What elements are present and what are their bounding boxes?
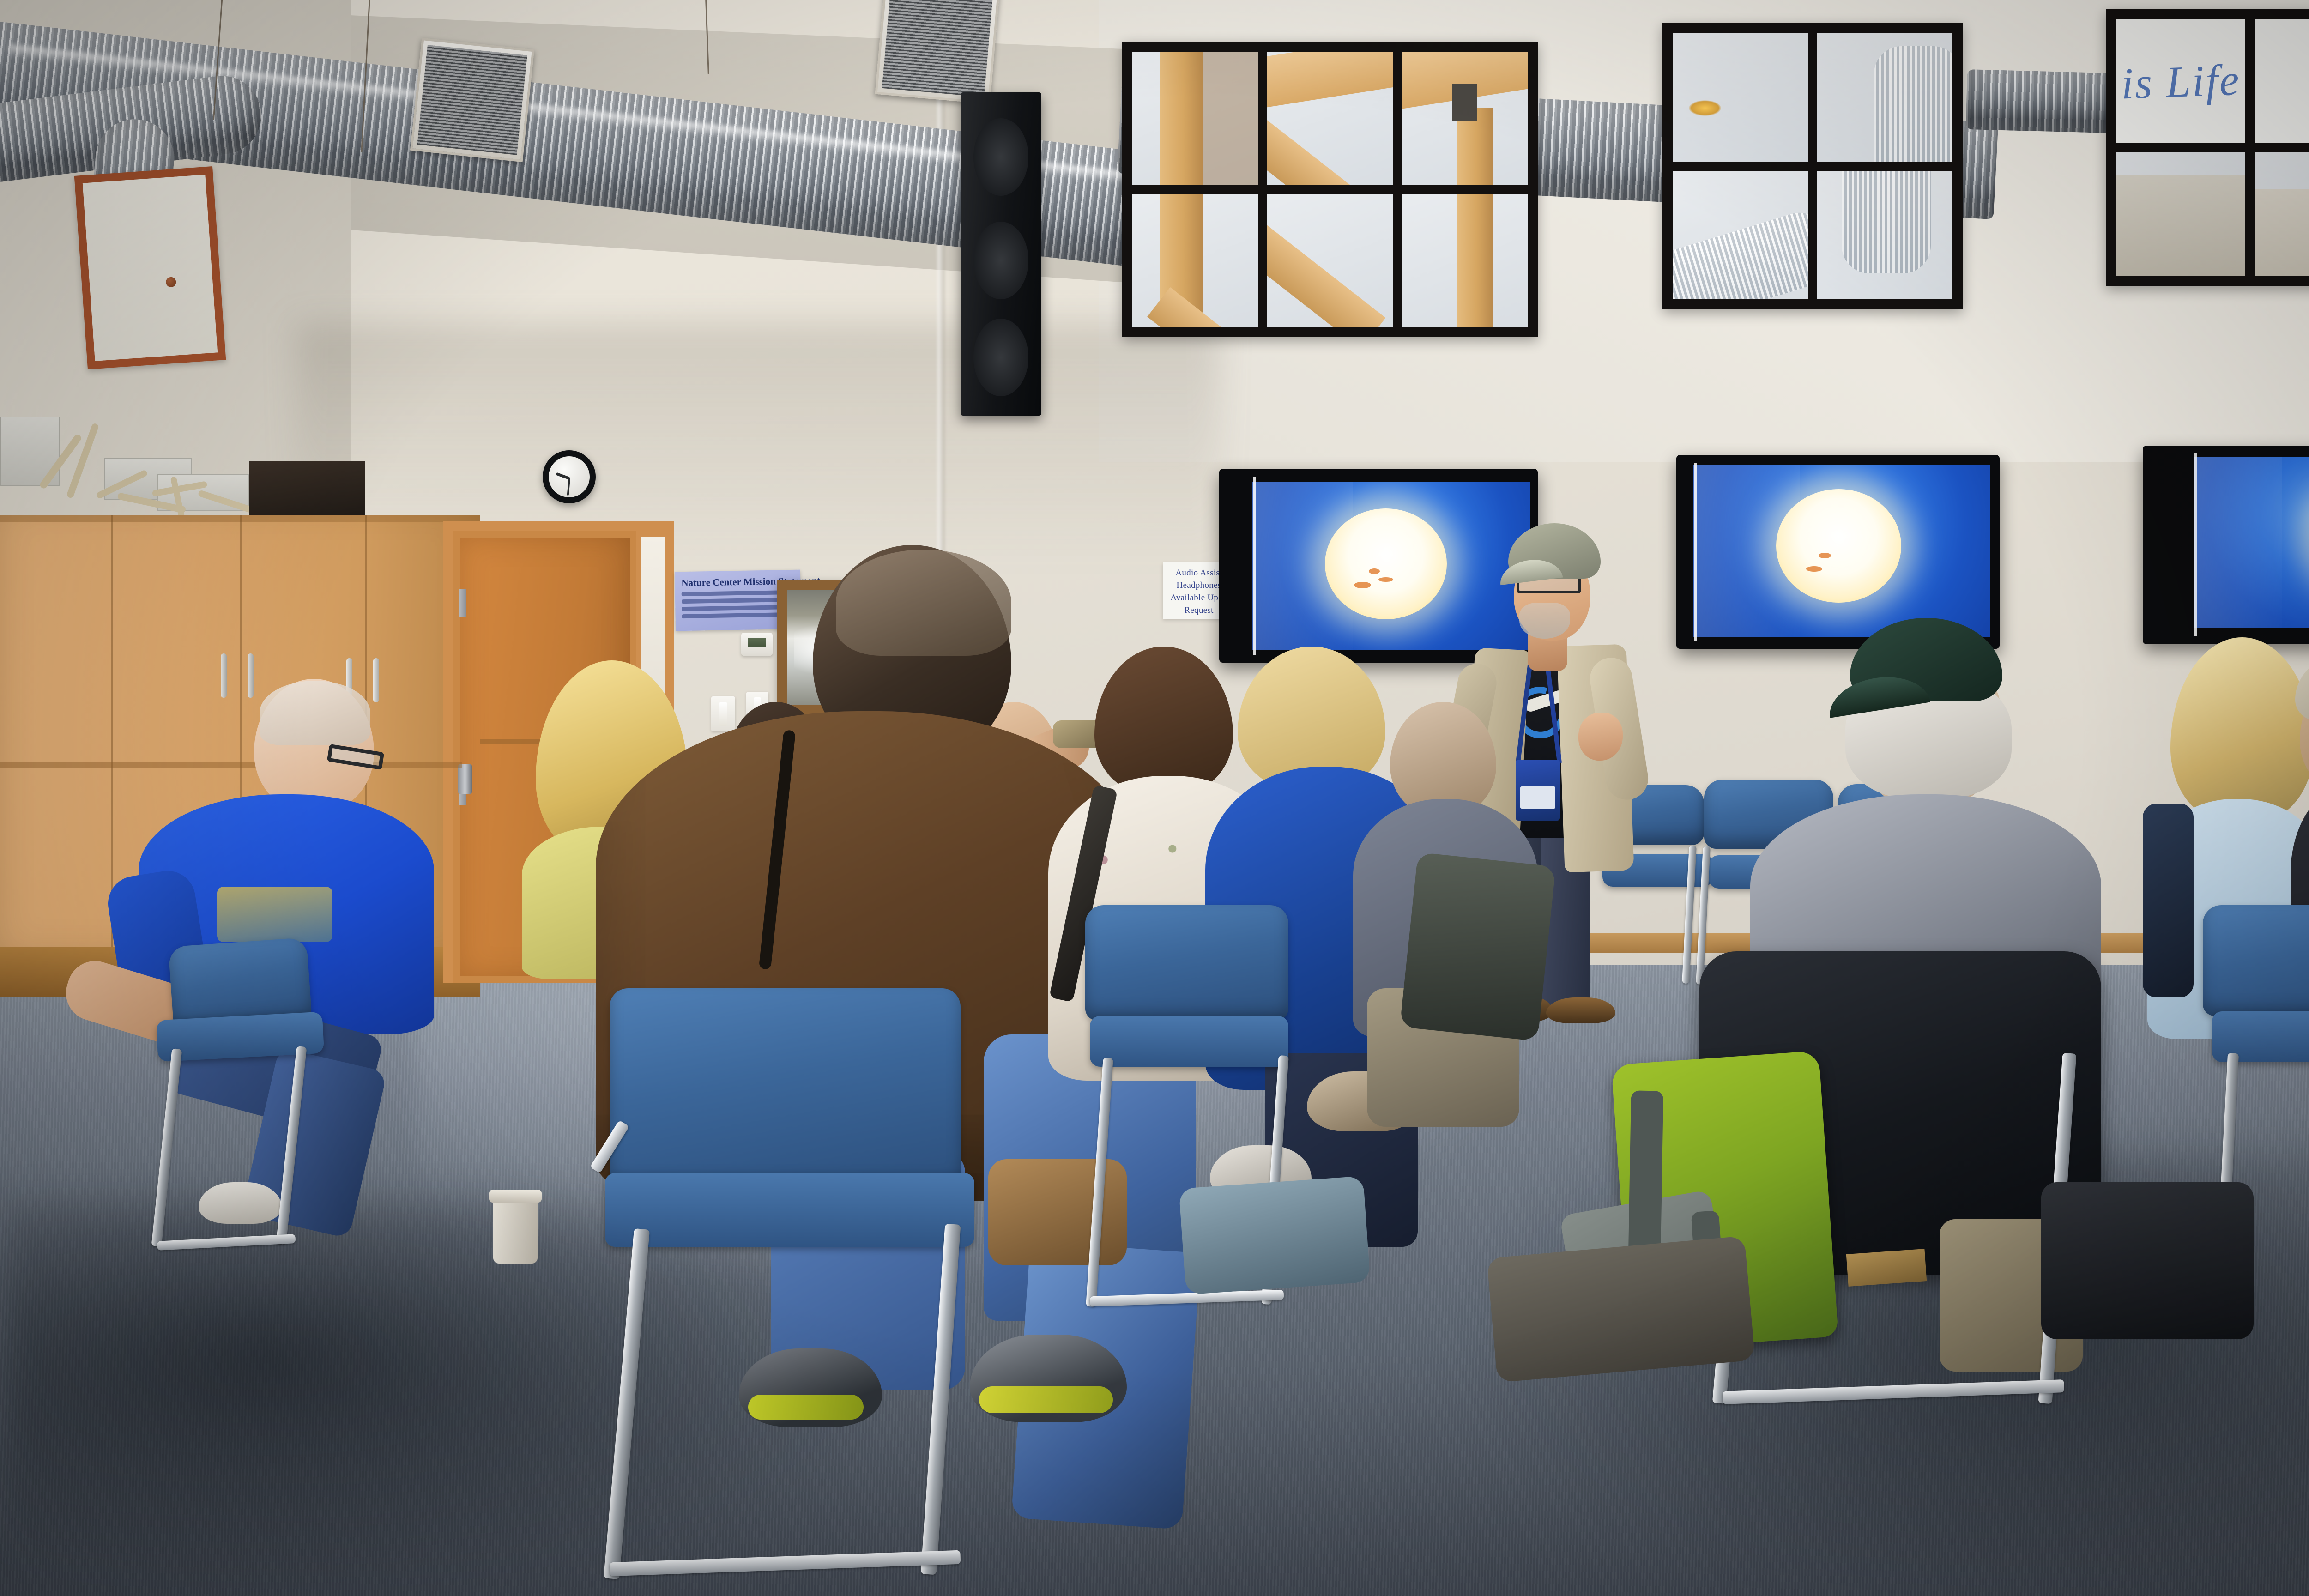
window-sign-pane: is Life — [2116, 19, 2245, 143]
ceiling-vent-1 — [410, 38, 534, 162]
short-gray-hair — [260, 681, 370, 745]
presenter-hand-right — [1578, 713, 1623, 761]
window-pane — [1267, 52, 1393, 185]
tan-cap — [2295, 651, 2309, 720]
wall-clock — [543, 450, 596, 503]
antler-display — [0, 406, 360, 522]
window-pane — [1132, 52, 1258, 185]
gray-hair-highlight — [836, 550, 1011, 656]
presenter-shoe-right — [1546, 997, 1615, 1023]
small-blue-bag[interactable] — [1179, 1176, 1370, 1294]
wall-speaker — [961, 92, 1041, 416]
gray-duffel-bag[interactable] — [1487, 1236, 1755, 1383]
blonde-hair — [2170, 637, 2309, 822]
chair-left-front[interactable] — [171, 942, 536, 1265]
presenter-beard — [1519, 603, 1570, 639]
chair-center-front[interactable] — [610, 988, 1085, 1579]
window-pane — [1673, 33, 1808, 162]
interior-window-right: is Life — [2106, 9, 2309, 286]
window-pane — [2116, 152, 2245, 276]
window-pane — [1402, 194, 1528, 327]
floor-plate — [1846, 1249, 1927, 1287]
window-pane — [1402, 52, 1528, 185]
window-pane — [1817, 33, 1952, 162]
photo-scene: is Life — [0, 0, 2309, 1596]
window-pane — [2255, 152, 2309, 276]
empty-picture-frame — [74, 166, 226, 369]
window-pane — [1817, 171, 1952, 299]
window-sign-text: is Life — [2120, 54, 2241, 109]
olive-pack[interactable] — [1400, 852, 1556, 1041]
interior-window-left — [1122, 42, 1538, 337]
window-pane — [1673, 171, 1808, 299]
monitor-right — [2143, 446, 2309, 644]
black-backpack[interactable] — [2041, 1182, 2254, 1339]
window-sign-pane — [2255, 19, 2309, 143]
interior-window-center — [1662, 23, 1963, 309]
coffee-cup[interactable] — [493, 1199, 538, 1263]
window-pane — [1267, 194, 1393, 327]
ceiling-vent-2 — [875, 0, 1000, 104]
window-pane — [1132, 194, 1258, 327]
tshirt-graphic — [217, 887, 332, 942]
